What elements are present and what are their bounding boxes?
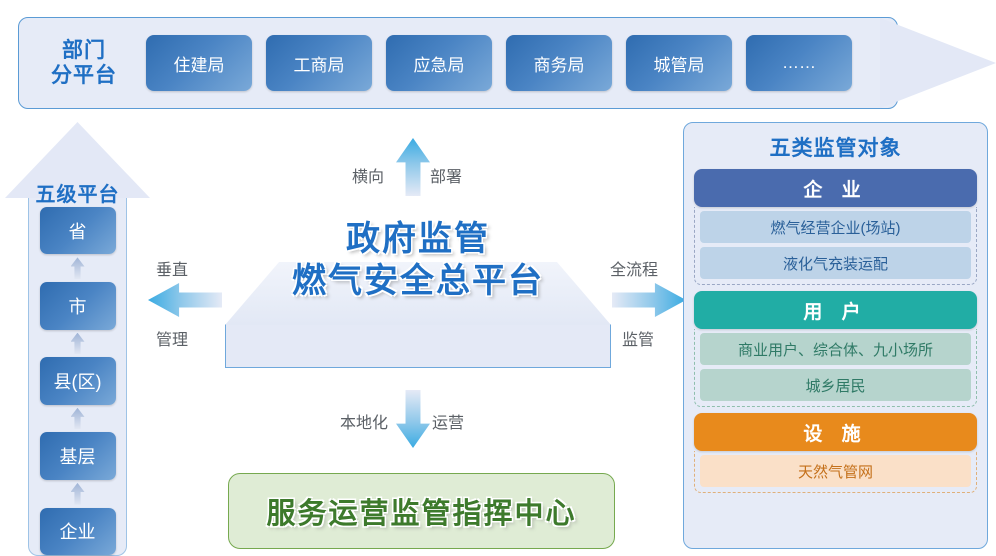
five-level-list: 省 市 县(区) 基层 企业	[28, 207, 127, 555]
localized-operation-down-arrow-icon	[396, 390, 430, 448]
band-title-line1: 部门	[36, 38, 132, 63]
up-arrow-icon-3	[71, 408, 85, 430]
department-platform-title: 部门 分平台	[36, 38, 132, 88]
item-commercial-users[interactable]: 商业用户、综合体、九小场所	[700, 333, 971, 365]
platform-title-line2: 燃气安全总平台	[195, 260, 641, 302]
dept-box-shangwuju[interactable]: 商务局	[506, 35, 612, 91]
group-enterprise-header[interactable]: 企 业	[694, 169, 977, 207]
up-arrow-icon-2	[71, 333, 85, 355]
group-enterprise-items: 燃气经营企业(场站) 液化气充装运配	[694, 207, 977, 285]
level-box-county[interactable]: 县(区)	[40, 357, 116, 404]
dept-box-zhujianju[interactable]: 住建局	[146, 35, 252, 91]
five-supervision-objects-panel: 五类监管对象 企 业 燃气经营企业(场站) 液化气充装运配 用 户 商业用户、综…	[683, 122, 988, 549]
slab-body	[225, 324, 611, 368]
item-natural-gas-pipeline-network[interactable]: 天然气管网	[700, 455, 971, 487]
up-arrow-icon-1	[71, 257, 85, 279]
group-user: 用 户 商业用户、综合体、九小场所 城乡居民	[694, 291, 977, 407]
group-facility-items: 天然气管网	[694, 451, 977, 493]
dept-box-chengguanju[interactable]: 城管局	[626, 35, 732, 91]
band-title-line2: 分平台	[36, 63, 132, 88]
department-platform-band: 部门 分平台 住建局 工商局 应急局 商务局 城管局 ……	[18, 8, 988, 118]
level-box-grassroots[interactable]: 基层	[40, 432, 116, 479]
up-arrow-icon-4	[71, 483, 85, 505]
service-operation-command-center-box[interactable]: 服务运营监管指挥中心	[228, 473, 615, 549]
dept-box-yingjiju[interactable]: 应急局	[386, 35, 492, 91]
level-box-city[interactable]: 市	[40, 282, 116, 329]
deploy-up-arrow-icon	[396, 138, 430, 196]
group-enterprise: 企 业 燃气经营企业(场站) 液化气充装运配	[694, 169, 977, 285]
left-arrow-label-bottom: 管理	[156, 326, 188, 350]
item-lpg-filling-transport[interactable]: 液化气充装运配	[700, 247, 971, 279]
platform-title-line1: 政府监管	[195, 218, 641, 260]
item-urban-rural-residents[interactable]: 城乡居民	[700, 369, 971, 401]
down-arrow-label-right: 运营	[432, 409, 464, 433]
level-box-enterprise[interactable]: 企业	[40, 508, 116, 555]
item-gas-operating-enterprise[interactable]: 燃气经营企业(场站)	[700, 211, 971, 243]
platform-title: 政府监管 燃气安全总平台	[195, 218, 641, 302]
band-content: 部门 分平台 住建局 工商局 应急局 商务局 城管局 ……	[18, 17, 898, 109]
right-arrow-label-bottom: 监管	[622, 326, 654, 350]
up-arrow-label-right: 部署	[430, 163, 462, 187]
level-box-province[interactable]: 省	[40, 207, 116, 254]
five-level-platform-title: 五级平台	[5, 178, 150, 207]
group-facility-header[interactable]: 设 施	[694, 413, 977, 451]
group-facility: 设 施 天然气管网	[694, 413, 977, 493]
group-user-header[interactable]: 用 户	[694, 291, 977, 329]
diagram-canvas: 部门 分平台 住建局 工商局 应急局 商务局 城管局 …… 五级平台 省 市 县…	[0, 0, 996, 556]
green-box-label: 服务运营监管指挥中心	[266, 490, 576, 532]
group-user-items: 商业用户、综合体、九小场所 城乡居民	[694, 329, 977, 407]
dept-box-more[interactable]: ……	[746, 35, 852, 91]
down-arrow-label-left: 本地化	[340, 409, 388, 433]
dept-box-gongshangju[interactable]: 工商局	[266, 35, 372, 91]
right-panel-title: 五类监管对象	[694, 132, 977, 162]
up-arrow-label-left: 横向	[352, 163, 384, 187]
left-arrow-label-top: 垂直	[156, 256, 188, 280]
five-level-platform-arrow: 五级平台 省 市 县(区) 基层 企业	[5, 122, 150, 556]
